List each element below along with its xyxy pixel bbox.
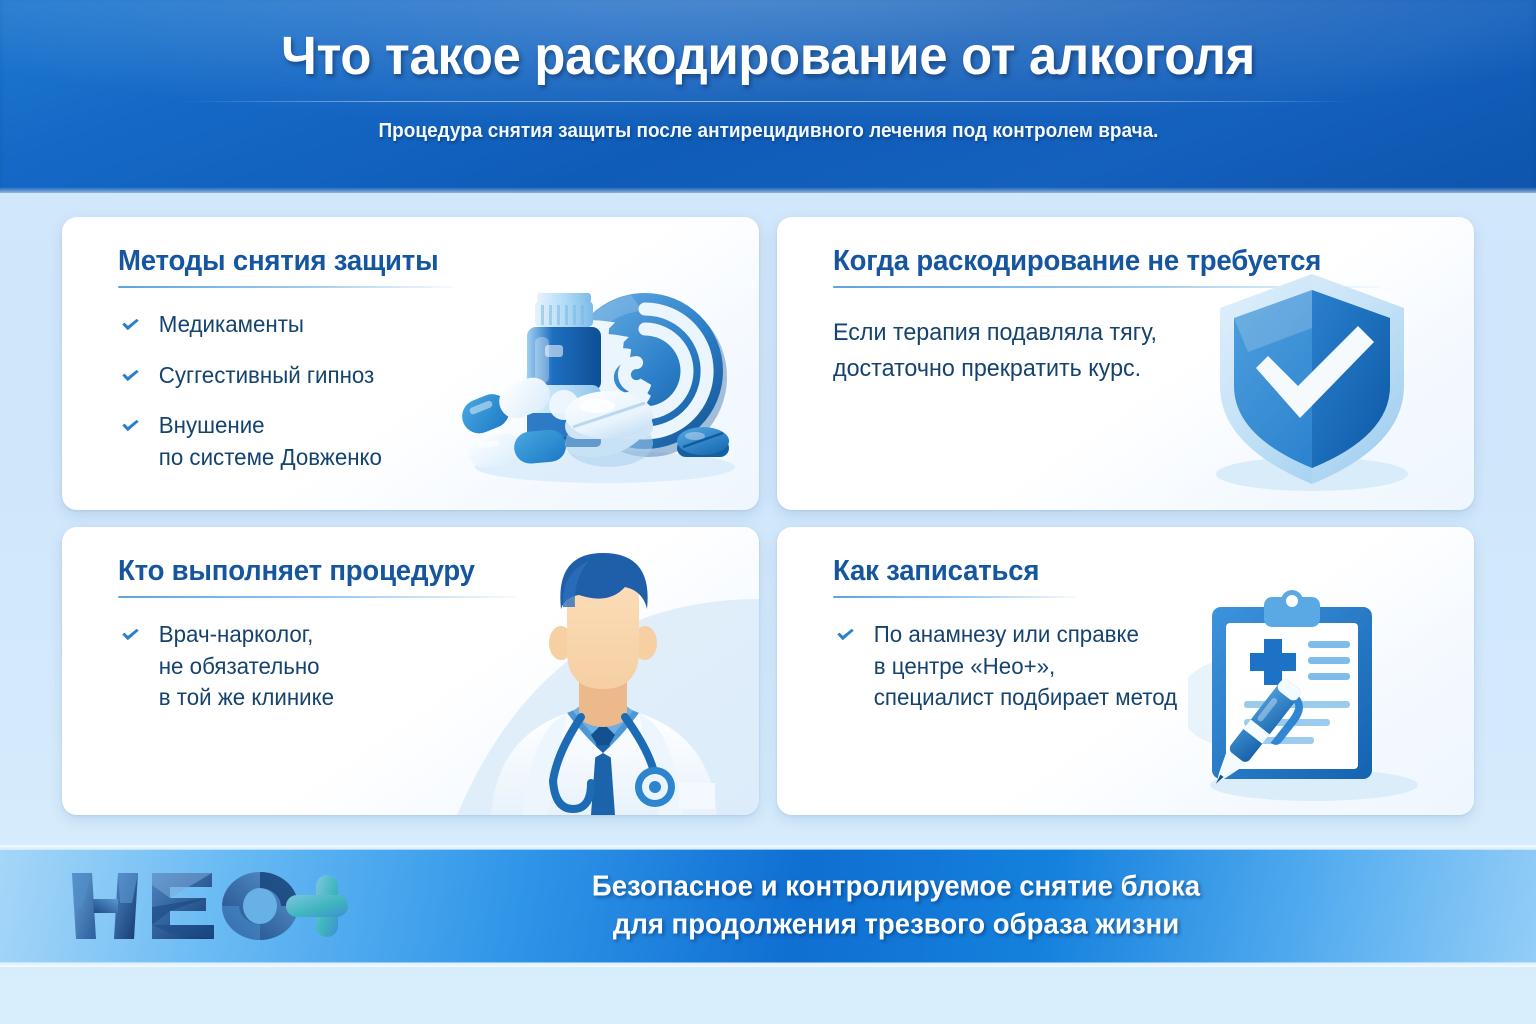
card-who-performs-title: Кто выполняет процедуру xyxy=(118,555,689,588)
list-item-label-line2: в центре «Нео+», xyxy=(874,653,1056,679)
list-item: Внушение по системе Довженко xyxy=(118,410,382,473)
footer-tagline-line-2: для продолжения трезвого образа жизни xyxy=(383,906,1409,944)
logo-letter-e xyxy=(152,873,214,939)
card-methods-bullet-list: Медикаменты Суггестивный гипноз Внушение… xyxy=(118,309,390,474)
list-item-label: Медикаменты xyxy=(159,311,304,337)
list-item-label-line3: в той же клинике xyxy=(159,684,334,710)
card-not-required-header: Когда раскодирование не требуется xyxy=(833,245,1434,288)
card-who-performs-bullet-list: Врач-нарколог, не обязательно в той же к… xyxy=(118,619,341,714)
card-methods-header: Методы снятия защиты xyxy=(118,245,719,288)
shield-check-illustration xyxy=(1208,268,1418,498)
list-item: Суггестивный гипноз xyxy=(118,360,382,392)
card-how-to-book: Как записаться По анамнезу или справке в… xyxy=(777,527,1474,815)
page-title: Что такое раскодирование от алкоголя xyxy=(281,28,1255,85)
card-who-performs-header: Кто выполняет процедуру xyxy=(118,555,719,598)
list-item-label-line1: По анамнезу или справке xyxy=(874,621,1139,647)
card-methods-underline xyxy=(118,286,454,288)
footer-tagline-line-1: Безопасное и контролируемое снятие блока xyxy=(383,868,1409,906)
list-item-label-line3: специалист подбирает метод xyxy=(874,684,1177,710)
card-how-to-book-header: Как записаться xyxy=(833,555,1434,598)
card-methods-title: Методы снятия защиты xyxy=(118,245,689,278)
card-how-to-book-title: Как записаться xyxy=(833,555,1404,588)
card-methods: Методы снятия защиты Медикаменты Суггест… xyxy=(62,217,759,510)
card-not-required-underline xyxy=(833,286,1381,288)
list-item: Врач-нарколог, не обязательно в той же к… xyxy=(118,619,334,714)
footer-tagline: Безопасное и контролируемое снятие блока… xyxy=(356,868,1436,943)
card-who-performs-underline xyxy=(118,596,516,598)
list-item-label-line1: Врач-нарколог, xyxy=(159,621,314,647)
card-how-to-book-underline xyxy=(833,596,1076,598)
infographic-poster: Что такое раскодирование от алкоголя Про… xyxy=(0,0,1536,1024)
card-not-required-title: Когда раскодирование не требуется xyxy=(833,245,1404,278)
neo-plus-logo xyxy=(66,863,352,949)
card-not-required-paragraph: Если терапия подавляла тягу, достаточно … xyxy=(833,315,1157,388)
paragraph-line-1: Если терапия подавляла тягу, xyxy=(833,315,1157,351)
list-item-label-line1: Внушение xyxy=(159,412,265,438)
card-how-to-book-bullet-list: По анамнезу или справке в центре «Нео+»,… xyxy=(833,619,1188,714)
check-icon xyxy=(121,628,140,642)
page-subtitle: Процедура снятия защиты после антирециди… xyxy=(378,120,1158,143)
check-icon xyxy=(121,318,140,332)
list-item-label-line2: не обязательно xyxy=(159,653,320,679)
card-not-required: Когда раскодирование не требуется Если т… xyxy=(777,217,1474,510)
check-icon xyxy=(836,628,855,642)
check-icon xyxy=(121,419,140,433)
logo-letter-n xyxy=(72,873,138,939)
poster-footer: Безопасное и контролируемое снятие блока… xyxy=(0,849,1536,963)
card-who-performs: Кто выполняет процедуру Врач-нарколог, н… xyxy=(62,527,759,815)
pills-and-spiral-illustration xyxy=(445,275,745,490)
list-item-label-line2: по системе Довженко xyxy=(159,444,382,470)
clipboard-pen-illustration xyxy=(1188,585,1418,805)
logo-plus-icon xyxy=(286,875,348,937)
card-grid: Методы снятия защиты Медикаменты Суггест… xyxy=(62,217,1474,815)
paragraph-line-2: достаточно прекратить курс. xyxy=(833,351,1157,387)
poster-header: Что такое раскодирование от алкоголя Про… xyxy=(0,0,1536,193)
list-item: По анамнезу или справке в центре «Нео+»,… xyxy=(833,619,1177,714)
title-divider xyxy=(178,101,1358,102)
list-item: Медикаменты xyxy=(118,309,382,341)
check-icon xyxy=(121,369,140,383)
list-item-label: Суггестивный гипноз xyxy=(159,362,375,388)
